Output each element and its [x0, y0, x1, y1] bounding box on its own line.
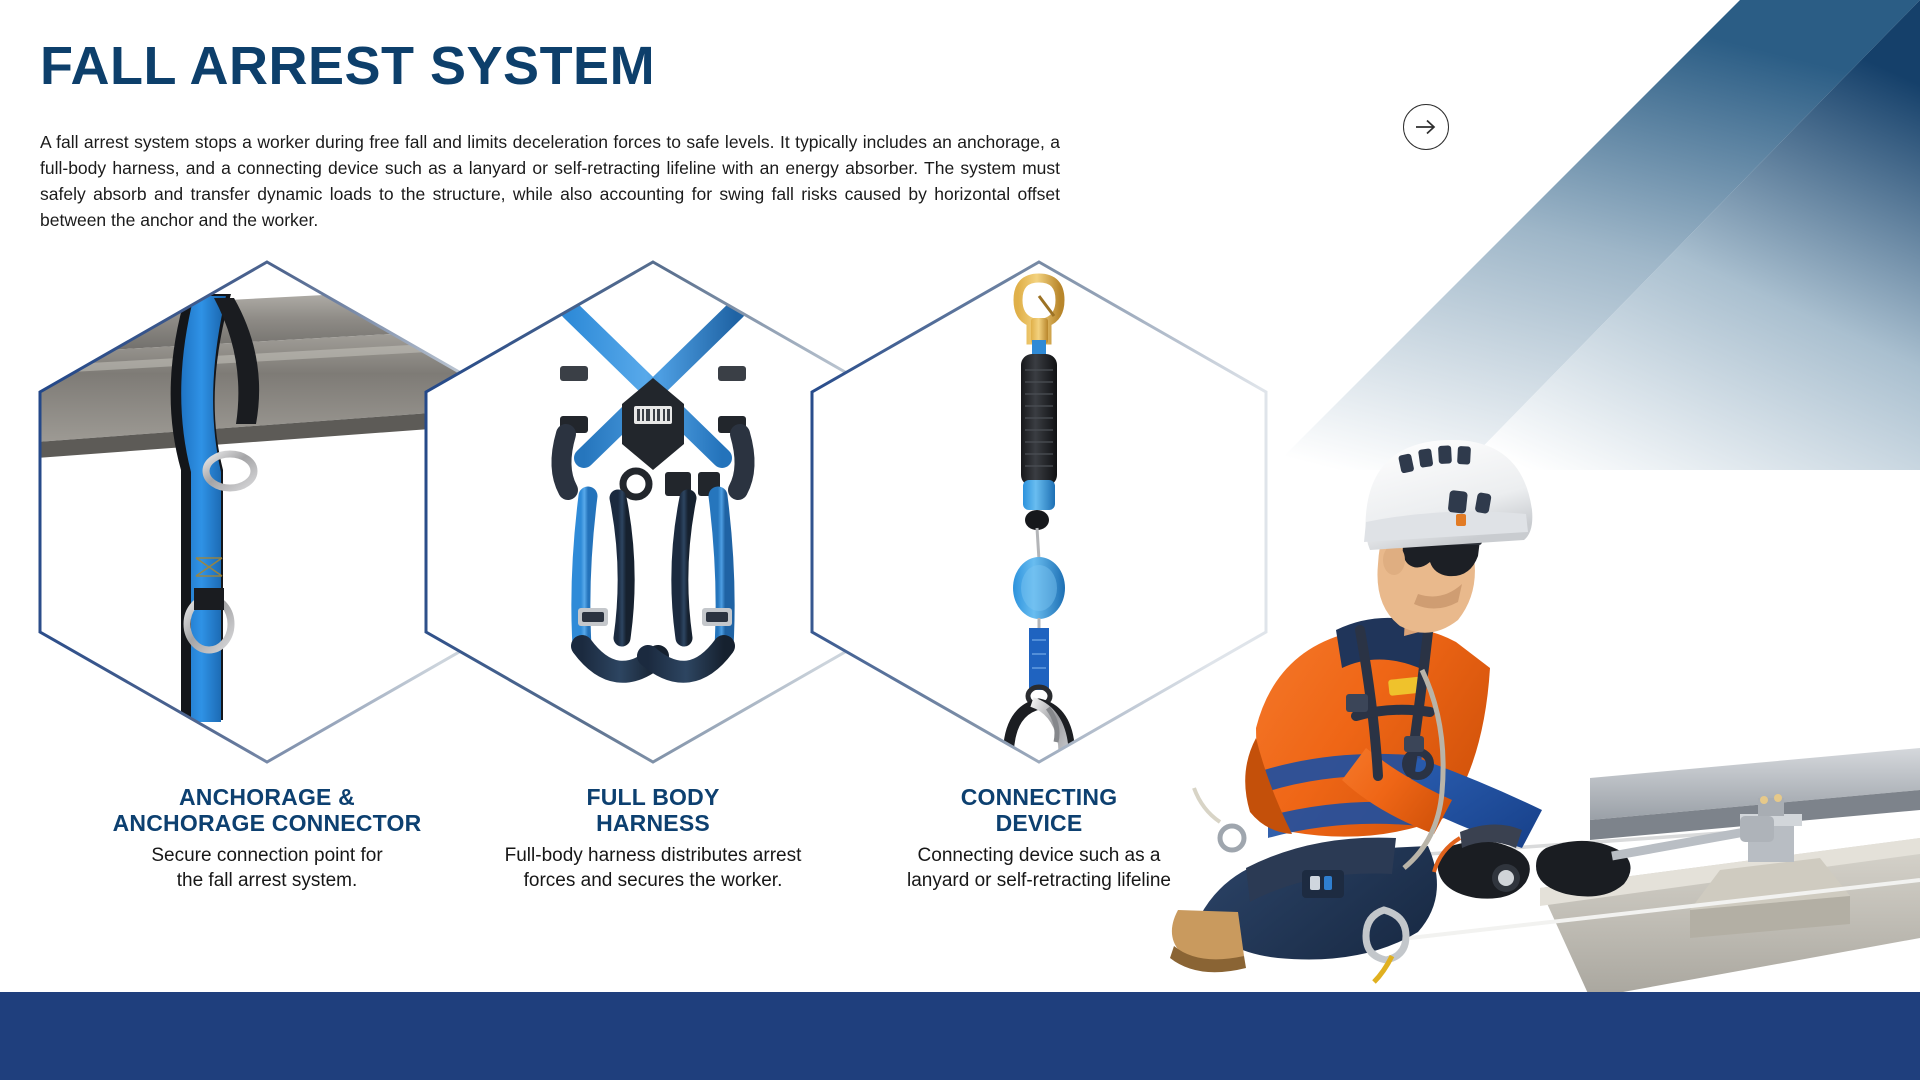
worker-kneeling-installing-anchor-point — [1160, 418, 1920, 1008]
footer-bar — [0, 992, 1920, 1080]
